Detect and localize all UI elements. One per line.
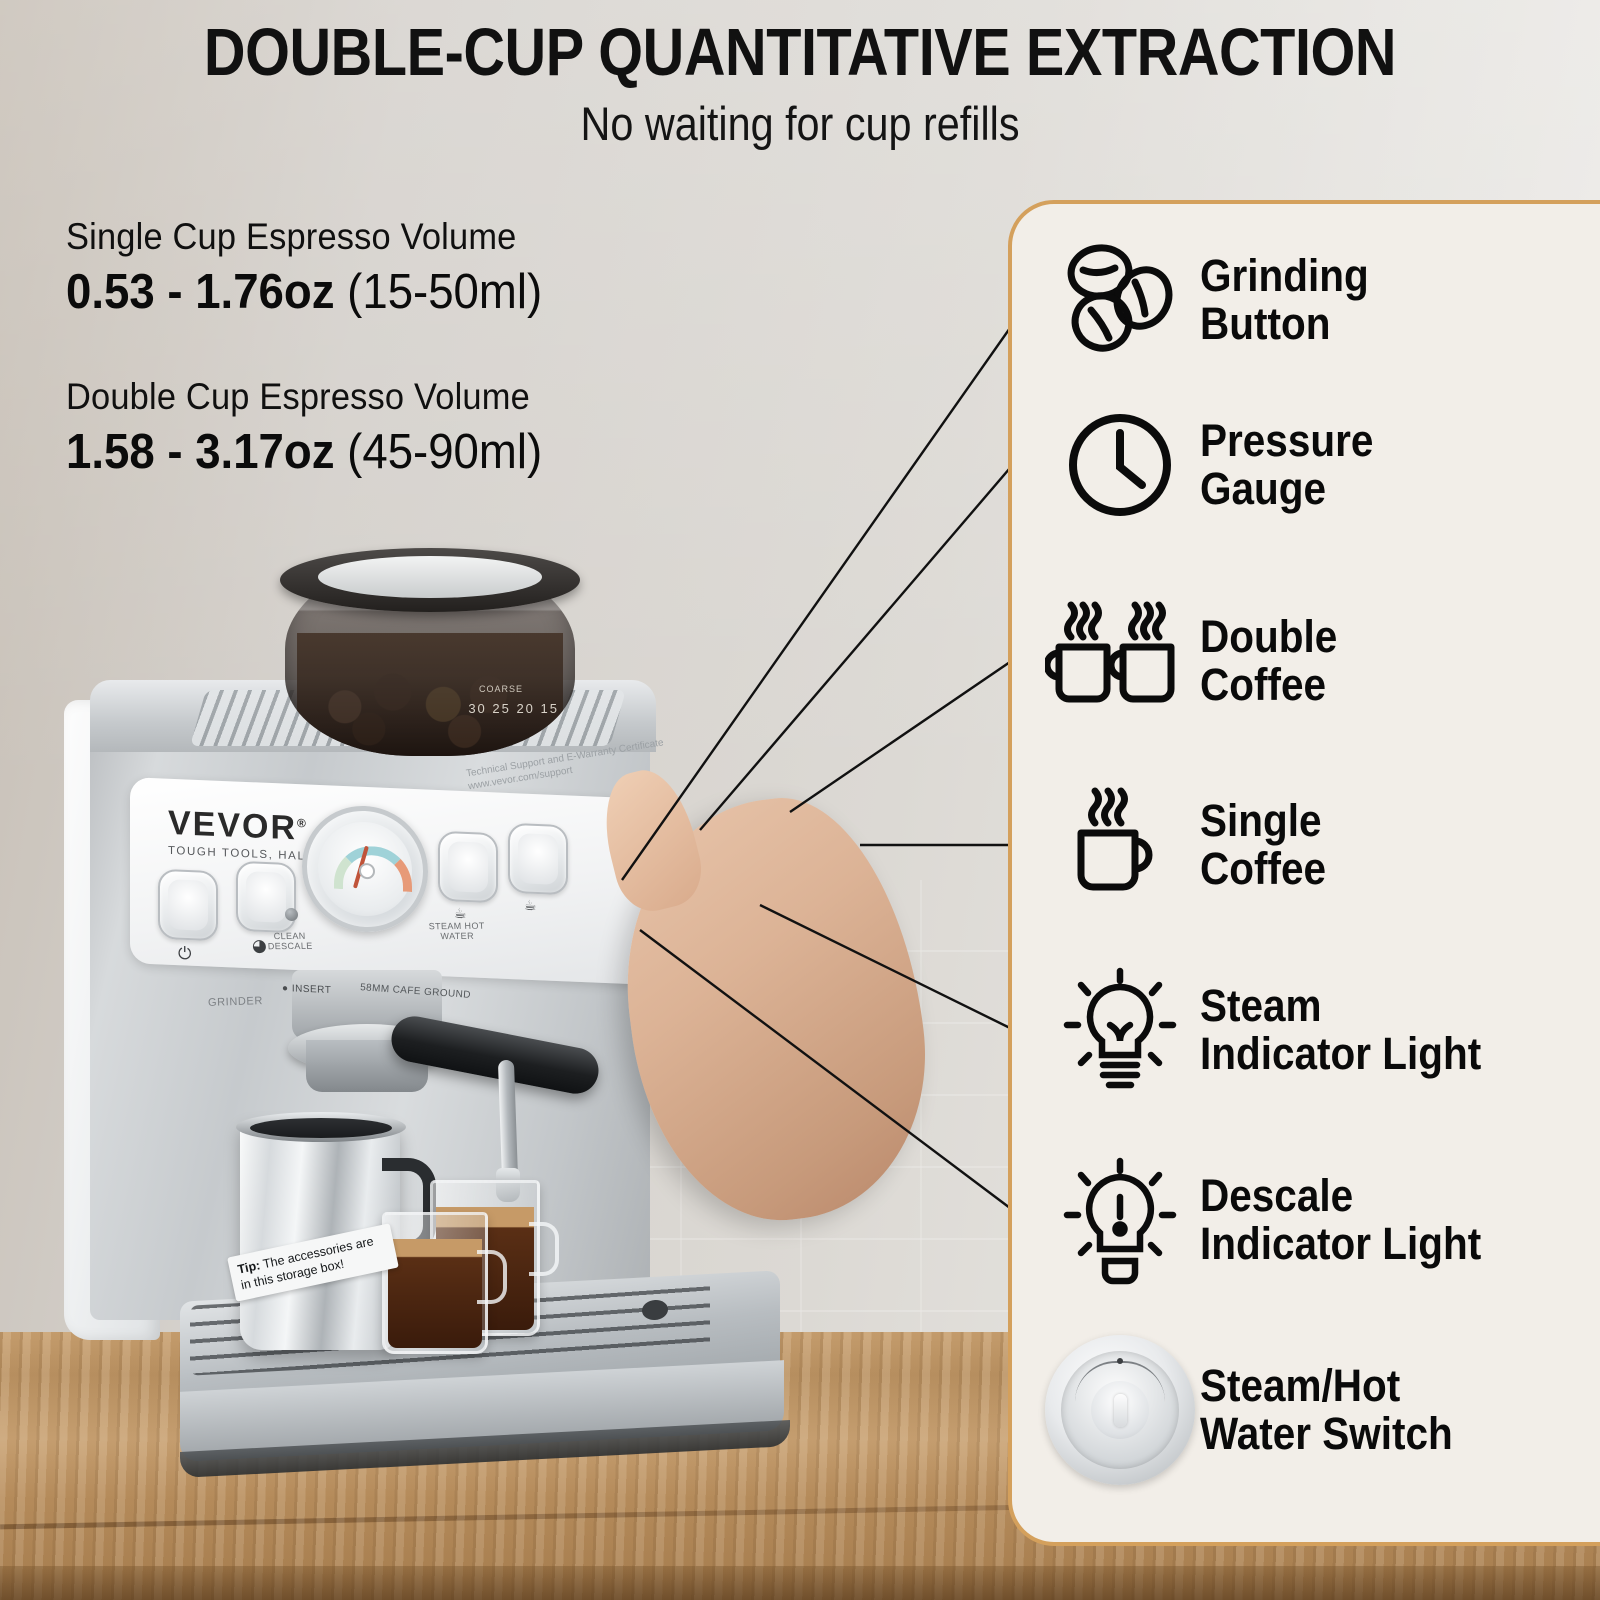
clean-descale-label: CLEAN DESCALE (262, 932, 319, 952)
descale-indicator-light (285, 908, 298, 922)
spec-value-bold: 0.53 - 1.76oz (66, 265, 335, 319)
clock-gauge-icon (1040, 405, 1200, 525)
power-button[interactable] (158, 869, 218, 942)
spec-value-paren: (45-90ml) (335, 425, 543, 479)
spec-single-cup: Single Cup Espresso Volume 0.53 - 1.76oz… (66, 216, 686, 320)
page-title: DOUBLE-CUP QUANTITATIVE EXTRACTION (112, 14, 1488, 91)
single-cup-icon: ☕ (454, 906, 467, 923)
espresso-machine-photo: MAX 2.8L 1.0L MIN COARSE 30 25 20 15 VEV… (30, 540, 960, 1510)
pitcher-interior (250, 1118, 392, 1138)
gauge-face (318, 820, 412, 918)
feature-single-coffee[interactable]: Single Coffee (1040, 780, 1600, 910)
single-coffee-button[interactable] (438, 831, 498, 904)
feature-double-coffee[interactable]: Double Coffee (1040, 596, 1600, 726)
spec-label: Double Cup Espresso Volume (66, 376, 643, 418)
hopper-grind-scale: 30 25 20 15 (439, 701, 559, 716)
knob-index-dot (1117, 1358, 1123, 1364)
feature-label: Pressure Gauge (1200, 417, 1373, 512)
feature-steam-indicator-light[interactable]: Steam Indicator Light (1040, 960, 1600, 1100)
feature-descale-indicator-light[interactable]: Descale Indicator Light (1040, 1150, 1600, 1290)
feature-label: Steam/Hot Water Switch (1200, 1362, 1453, 1457)
brand-text: VEVOR (168, 804, 297, 847)
glass-handle (477, 1250, 507, 1304)
grinding-button[interactable] (236, 861, 296, 934)
lightbulb-icon (1040, 963, 1200, 1098)
power-icon: ⏻ (178, 944, 191, 965)
spec-value: 0.53 - 1.76oz (15-50ml) (66, 264, 643, 320)
feature-label: Grinding Button (1200, 252, 1369, 347)
glass-handle (529, 1222, 559, 1276)
feature-label: Single Coffee (1200, 797, 1326, 892)
two-coffee-cups-icon (1040, 601, 1200, 721)
registered-mark-icon: ® (297, 816, 308, 830)
feature-label: Double Coffee (1200, 613, 1337, 708)
espresso-liquid (388, 1239, 482, 1348)
feature-pressure-gauge[interactable]: Pressure Gauge (1040, 400, 1600, 530)
insert-label: ● INSERT (282, 983, 331, 996)
spec-value: 1.58 - 3.17oz (45-90ml) (66, 424, 643, 480)
feature-grinding-button[interactable]: Grinding Button (1040, 240, 1600, 360)
grinder-label: GRINDER (208, 995, 263, 1009)
countertop-front-edge (0, 1566, 1600, 1600)
hopper-lid-inner (318, 556, 542, 598)
steam-hot-water-label: STEAM HOT WATER (426, 922, 489, 942)
double-cup-icon: ☕ (524, 898, 537, 915)
page-subtitle: No waiting for cup refills (96, 96, 1504, 151)
single-coffee-cup-icon (1040, 785, 1200, 905)
espresso-volume-specs: Single Cup Espresso Volume 0.53 - 1.76oz… (66, 216, 686, 536)
hopper-coarse-label: COARSE (479, 684, 523, 694)
lightbulb-alert-icon (1040, 1153, 1200, 1288)
double-coffee-button[interactable] (508, 823, 568, 896)
feature-steam-hot-water-switch[interactable]: Steam/Hot Water Switch (1040, 1330, 1600, 1490)
spec-value-bold: 1.58 - 3.17oz (66, 425, 335, 479)
spec-value-paren: (15-50ml) (335, 265, 543, 319)
feature-label: Descale Indicator Light (1200, 1172, 1481, 1267)
knob-body (1045, 1335, 1195, 1485)
coffee-beans-icon (1040, 240, 1200, 360)
spec-label: Single Cup Espresso Volume (66, 216, 643, 258)
feature-label: Steam Indicator Light (1200, 982, 1481, 1077)
rotary-knob-photo (1040, 1335, 1200, 1485)
spec-double-cup: Double Cup Espresso Volume 1.58 - 3.17oz… (66, 376, 686, 480)
espresso-glass-front (382, 1212, 488, 1354)
